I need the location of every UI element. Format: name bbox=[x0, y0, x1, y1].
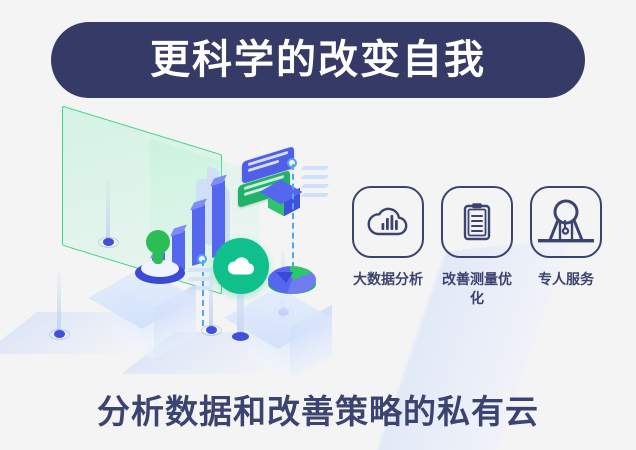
mini-cube bbox=[266, 180, 300, 216]
speed-line bbox=[300, 184, 329, 188]
cloud-icon bbox=[226, 255, 256, 277]
pie-chart-3d bbox=[268, 266, 316, 300]
page-caption: 分析数据和改善策略的私有云 bbox=[0, 385, 636, 433]
service-person-icon bbox=[534, 190, 598, 254]
page-title: 更科学的改变自我 bbox=[150, 40, 486, 80]
feature-item-service[interactable]: 专人服务 bbox=[530, 186, 602, 326]
feature-item-big-data[interactable]: 大数据分析 bbox=[352, 186, 424, 326]
pin-ball bbox=[206, 326, 217, 334]
speed-lines-right bbox=[302, 166, 336, 200]
feature-label: 改善测量优化 bbox=[441, 270, 513, 308]
speed-line bbox=[300, 166, 329, 170]
feature-list: 大数据分析 改善测量优化 bbox=[352, 186, 602, 326]
speed-line bbox=[300, 175, 329, 179]
cloud-badge-foot bbox=[232, 332, 249, 341]
cloud-bar-chart-icon bbox=[365, 202, 411, 242]
feature-icon-card[interactable] bbox=[352, 186, 424, 258]
dashed-connector-right bbox=[292, 164, 294, 268]
cloud-badge-pole bbox=[237, 290, 244, 338]
pie-face bbox=[268, 266, 316, 294]
pin-ball bbox=[54, 330, 65, 338]
feature-icon-card[interactable] bbox=[530, 186, 602, 258]
feature-item-measurement[interactable]: 改善测量优化 bbox=[441, 186, 513, 326]
feature-label: 专人服务 bbox=[530, 270, 602, 289]
joystick-ball bbox=[146, 230, 170, 254]
glass-cube-right bbox=[248, 288, 332, 372]
illustration-scene bbox=[20, 120, 350, 370]
pin-rod bbox=[106, 180, 110, 242]
feature-icon-card[interactable] bbox=[441, 186, 513, 258]
pin-rod bbox=[57, 272, 61, 334]
clipboard-icon bbox=[457, 200, 497, 244]
speed-line bbox=[300, 193, 329, 197]
pin-ball bbox=[103, 238, 114, 246]
header-banner: 更科学的改变自我 bbox=[51, 22, 585, 98]
feature-label: 大数据分析 bbox=[352, 270, 424, 289]
cloud-badge bbox=[213, 238, 269, 294]
poster-canvas: 更科学的改变自我 bbox=[0, 0, 636, 450]
